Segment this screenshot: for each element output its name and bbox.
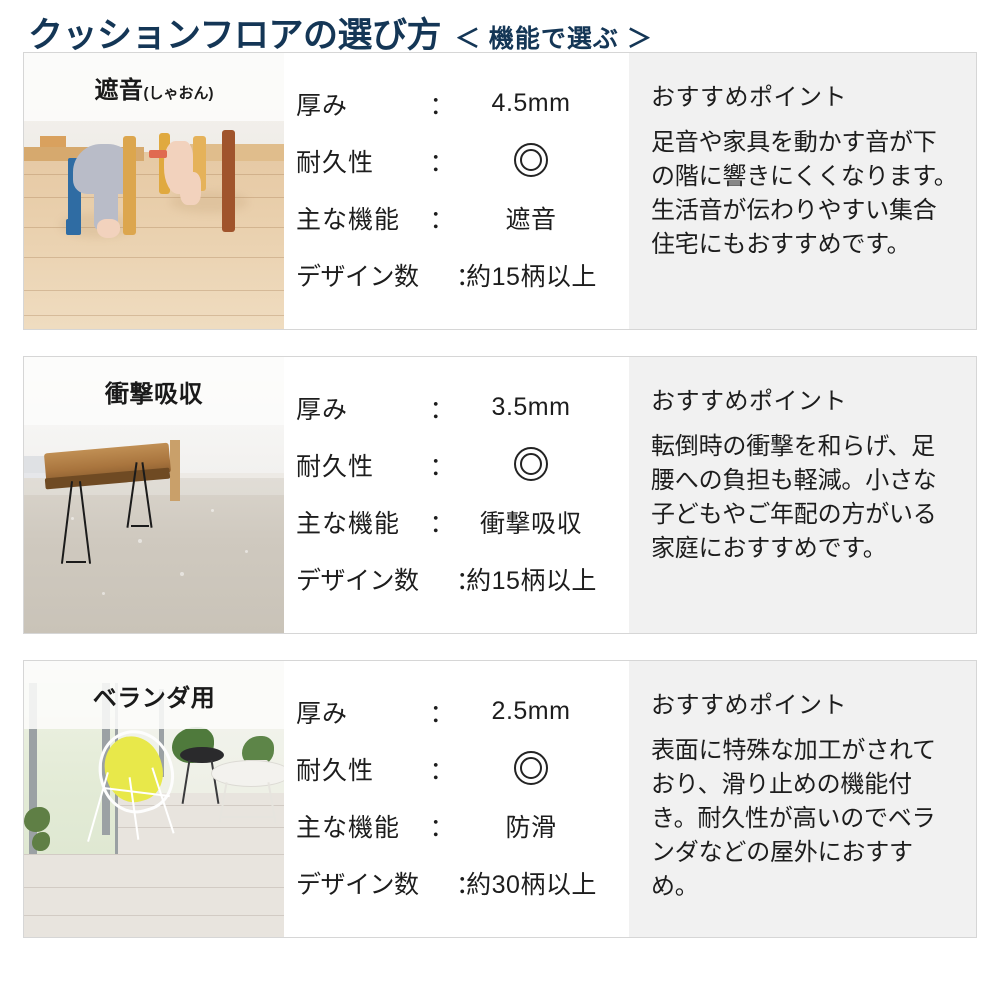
double-circle-icon xyxy=(514,143,548,177)
spec-list-balcony: 厚み ： 2.5mm 耐久性 ： 主な機能 ： 防滑 デザイン数 ： 約30柄以… xyxy=(284,661,629,937)
spec-colon: ： xyxy=(429,143,455,179)
page-title: クッションフロアの選び方 xyxy=(28,18,441,53)
card-photo-balcony: ベランダ用 xyxy=(24,661,284,937)
card-shaon[interactable]: 遮音(しゃおん) 厚み ： 4.5mm 耐久性 ： 主な機能 ： 遮音 デザイン… xyxy=(23,52,977,330)
spec-row-design-count: デザイン数 ： 約15柄以上 xyxy=(296,550,629,607)
spec-colon: ： xyxy=(429,200,455,236)
spec-label-design-count: デザイン数 xyxy=(296,257,456,293)
spec-label-thickness: 厚み xyxy=(296,86,429,122)
spec-value-thickness: 3.5mm xyxy=(455,393,629,422)
spec-colon: ： xyxy=(429,86,455,122)
spec-label-thickness: 厚み xyxy=(296,390,429,426)
page-header: クッションフロアの選び方 ＜ 機能で選ぶ ＞ xyxy=(0,0,1000,52)
spec-value-durability xyxy=(455,751,629,786)
spec-row-main-function: 主な機能 ： 遮音 xyxy=(296,189,629,246)
recommend-heading: おすすめポイント xyxy=(651,77,958,112)
spec-value-durability xyxy=(455,447,629,482)
spec-colon: ： xyxy=(429,808,455,844)
spec-row-design-count: デザイン数 ： 約15柄以上 xyxy=(296,246,629,303)
spec-label-main-function: 主な機能 xyxy=(296,504,429,540)
spec-label-design-count: デザイン数 xyxy=(296,865,456,901)
spec-row-durability: 耐久性 ： xyxy=(296,740,629,797)
recommend-heading: おすすめポイント xyxy=(651,381,958,416)
spec-colon: ： xyxy=(429,447,455,483)
recommend-heading: おすすめポイント xyxy=(651,685,958,720)
card-shock-absorb[interactable]: 衝撃吸収 厚み ： 3.5mm 耐久性 ： 主な機能 ： 衝撃吸収 デザイン数 … xyxy=(23,356,977,634)
double-circle-icon xyxy=(514,447,548,481)
spec-label-thickness: 厚み xyxy=(296,694,429,730)
page-subtitle: ＜ 機能で選ぶ ＞ xyxy=(455,27,653,52)
spec-label-durability: 耐久性 xyxy=(296,447,429,483)
spec-list-shaon: 厚み ： 4.5mm 耐久性 ： 主な機能 ： 遮音 デザイン数 ： 約15柄以… xyxy=(284,53,629,329)
spec-colon: ： xyxy=(429,751,455,787)
photo-label-bar: 遮音(しゃおん) xyxy=(24,53,284,121)
spec-label-design-count: デザイン数 xyxy=(296,561,456,597)
double-circle-icon xyxy=(514,751,548,785)
spec-value-main-function: 衝撃吸収 xyxy=(455,504,629,540)
spec-value-design-count: 約15柄以上 xyxy=(456,257,629,293)
spec-label-durability: 耐久性 xyxy=(296,143,429,179)
spec-value-main-function: 遮音 xyxy=(455,200,629,236)
photo-label-balcony: ベランダ用 xyxy=(93,678,216,713)
recommend-body: 転倒時の衝撃を和らげ、足腰への負担も軽減。小さな子どもやご年配の方がいる家庭にお… xyxy=(651,430,958,566)
spec-colon: ： xyxy=(429,504,455,540)
card-photo-shaon: 遮音(しゃおん) xyxy=(24,53,284,329)
spec-label-durability: 耐久性 xyxy=(296,751,429,787)
photo-label-shaon: 遮音(しゃおん) xyxy=(95,70,214,105)
spec-value-thickness: 2.5mm xyxy=(455,697,629,726)
card-list: 遮音(しゃおん) 厚み ： 4.5mm 耐久性 ： 主な機能 ： 遮音 デザイン… xyxy=(0,52,1000,938)
spec-row-thickness: 厚み ： 4.5mm xyxy=(296,75,629,132)
recommend-panel-shock-absorb: おすすめポイント 転倒時の衝撃を和らげ、足腰への負担も軽減。小さな子どもやご年配… xyxy=(629,357,976,633)
spec-label-main-function: 主な機能 xyxy=(296,808,429,844)
spec-row-durability: 耐久性 ： xyxy=(296,436,629,493)
spec-value-main-function: 防滑 xyxy=(455,808,629,844)
spec-row-thickness: 厚み ： 3.5mm xyxy=(296,379,629,436)
photo-label-bar: 衝撃吸収 xyxy=(24,357,284,425)
photo-label-shock-absorb: 衝撃吸収 xyxy=(105,374,203,409)
card-balcony[interactable]: ベランダ用 厚み ： 2.5mm 耐久性 ： 主な機能 ： 防滑 デザイン数 ： xyxy=(23,660,977,938)
recommend-body: 表面に特殊な加工がされており、滑り止めの機能付き。耐久性が高いのでベランダなどの… xyxy=(651,734,958,904)
photo-label-bar: ベランダ用 xyxy=(24,661,284,729)
spec-row-durability: 耐久性 ： xyxy=(296,132,629,189)
spec-row-thickness: 厚み ： 2.5mm xyxy=(296,683,629,740)
recommend-panel-shaon: おすすめポイント 足音や家具を動かす音が下の階に響きにくくなります。生活音が伝わ… xyxy=(629,53,976,329)
spec-row-main-function: 主な機能 ： 衝撃吸収 xyxy=(296,493,629,550)
spec-row-main-function: 主な機能 ： 防滑 xyxy=(296,797,629,854)
spec-label-main-function: 主な機能 xyxy=(296,200,429,236)
spec-colon: ： xyxy=(429,390,455,426)
spec-value-design-count: 約15柄以上 xyxy=(456,561,629,597)
recommend-body: 足音や家具を動かす音が下の階に響きにくくなります。生活音が伝わりやすい集合住宅に… xyxy=(651,126,958,262)
spec-row-design-count: デザイン数 ： 約30柄以上 xyxy=(296,854,629,911)
card-photo-shock-absorb: 衝撃吸収 xyxy=(24,357,284,633)
spec-list-shock-absorb: 厚み ： 3.5mm 耐久性 ： 主な機能 ： 衝撃吸収 デザイン数 ： 約15… xyxy=(284,357,629,633)
recommend-panel-balcony: おすすめポイント 表面に特殊な加工がされており、滑り止めの機能付き。耐久性が高い… xyxy=(629,661,976,937)
spec-colon: ： xyxy=(429,694,455,730)
spec-value-thickness: 4.5mm xyxy=(455,89,629,118)
spec-value-design-count: 約30柄以上 xyxy=(456,865,629,901)
spec-value-durability xyxy=(455,143,629,178)
